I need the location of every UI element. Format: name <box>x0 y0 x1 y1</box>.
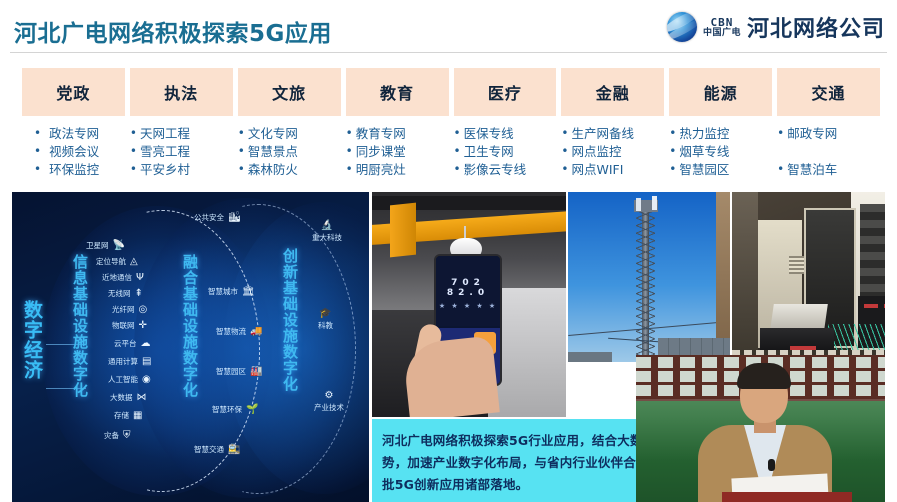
list-item: •影像云专线 <box>454 161 557 178</box>
public-safety-icon: 🏙 <box>228 212 241 223</box>
category-column-dangzheng: 党政 •政法专网 •视频会议 •环保监控 <box>22 68 125 188</box>
category-header-card[interactable]: 执法 <box>130 68 233 116</box>
bigdata-icon: ⋈ <box>137 392 147 403</box>
room-wall <box>732 192 758 362</box>
list-item: •雪亮工程 <box>130 143 233 160</box>
pillar-label-3: 创新基础设施数字化 <box>280 248 301 392</box>
list-item: •网点监控 <box>561 143 664 160</box>
bullet-icon: • <box>669 125 676 142</box>
list-item-label: 文化专网 <box>248 125 298 142</box>
info-item: 智慧物流🚚 <box>216 326 262 337</box>
list-item: •政法专网 <box>34 125 125 142</box>
bullet-icon: • <box>34 143 41 160</box>
list-item: •教育专网 <box>346 125 449 142</box>
digital-economy-infographic: 数字经济 信息基础设施数字化 融合基础设施数字化 创新基础设施数字化 卫星网📡 … <box>12 192 369 502</box>
category-item-list: •邮政专网 • •智慧泊车 <box>777 116 880 178</box>
category-title: 文旅 <box>272 80 306 104</box>
bullet-icon: • <box>130 143 137 160</box>
info-item: 灾备⛨ <box>104 430 131 441</box>
cbn-brand-en: CBN <box>711 17 734 28</box>
list-item: •生产网备线 <box>561 125 664 142</box>
speaker-video-panel[interactable] <box>636 355 885 502</box>
list-item: •医保专线 <box>454 125 557 142</box>
bullet-icon: • <box>34 125 41 142</box>
category-header-card[interactable]: 能源 <box>669 68 772 116</box>
page-title: 河北广电网络积极探索5G应用 <box>14 14 332 48</box>
speedtest-screen: 702 82.0 ★ ★ ★ ★ ★ <box>436 256 500 326</box>
info-item: 人工智能◉ <box>108 374 151 385</box>
category-header-card[interactable]: 文旅 <box>238 68 341 116</box>
category-title: 医疗 <box>488 80 522 104</box>
antenna-panel <box>652 196 657 210</box>
bullet-icon: • <box>669 161 676 178</box>
speedtest-values: 702 82.0 <box>436 278 500 298</box>
speaker-hair <box>737 363 791 389</box>
info-item: 🎓科教 <box>318 308 333 331</box>
bullet-icon: • <box>454 161 461 178</box>
equipment-room-photo <box>732 192 885 362</box>
info-item-label: 智慧园区 <box>216 366 246 377</box>
satellite-icon: 📡 <box>113 240 125 251</box>
list-item: •邮政专网 <box>777 125 880 142</box>
microscope-icon: 🔬 <box>321 220 333 231</box>
bullet-icon: • <box>130 125 137 142</box>
list-item-label: 天网工程 <box>140 125 190 142</box>
category-column-yiliao: 医疗 •医保专线 •卫生专网 •影像云专线 <box>454 68 557 188</box>
category-header-card[interactable]: 交通 <box>777 68 880 116</box>
info-item: 物联网✛ <box>112 320 147 331</box>
bullet-icon: • <box>454 125 461 142</box>
info-item-label: 智慧环保 <box>212 404 242 415</box>
slide-header: 河北广电网络积极探索5G应用 CBN 中国广电 河北网络公司 <box>0 0 897 56</box>
compute-icon: ▤ <box>142 356 151 367</box>
info-item: 存储▦ <box>114 410 142 421</box>
bullet-icon: • <box>669 143 676 160</box>
ai-icon: ◉ <box>142 374 151 385</box>
environment-icon: 🌱 <box>246 404 258 415</box>
transport-icon: 🚉 <box>228 444 240 455</box>
info-item-label: 灾备 <box>104 430 119 441</box>
category-column-jiaotong: 交通 •邮政专网 • •智慧泊车 <box>777 68 880 188</box>
info-item-label: 智慧物流 <box>216 326 246 337</box>
bullet-icon: • <box>130 161 137 178</box>
graduation-cap-icon: 🎓 <box>319 308 331 319</box>
category-column-jiaoyu: 教育 •教育专网 •同步课堂 •明厨亮灶 <box>346 68 449 188</box>
category-header-card[interactable]: 医疗 <box>454 68 557 116</box>
info-item-label: 智慧交通 <box>194 444 224 455</box>
list-item-label: 森林防火 <box>248 161 298 178</box>
list-item-label: 智慧泊车 <box>787 161 837 178</box>
list-item-label: 影像云专线 <box>464 161 527 178</box>
info-item: 通用计算▤ <box>108 356 151 367</box>
side-building <box>716 192 730 362</box>
info-item: 智慧交通🚉 <box>194 444 240 455</box>
bullet-icon: • <box>454 143 461 160</box>
antenna-panel <box>636 198 641 211</box>
info-item: 🔬重大科技 <box>312 220 342 243</box>
bullet-icon: • <box>777 161 784 178</box>
category-item-list: •医保专线 •卫生专网 •影像云专线 <box>454 116 557 178</box>
info-item-label: 光纤网 <box>112 304 135 315</box>
list-item: •智慧园区 <box>669 161 772 178</box>
bullet-icon: • <box>346 143 353 160</box>
list-item: •同步课堂 <box>346 143 449 160</box>
smart-city-icon: 🏛 <box>242 286 255 297</box>
infographic-center-label: 数字经济 <box>22 300 42 380</box>
list-item-label: 雪亮工程 <box>140 143 190 160</box>
category-item-list: •教育专网 •同步课堂 •明厨亮灶 <box>346 116 449 178</box>
info-item: 光纤网◎ <box>112 304 147 315</box>
factory-5g-speedtest-photo: 702 82.0 ★ ★ ★ ★ ★ <box>372 192 566 417</box>
company-name: 河北网络公司 <box>747 11 885 43</box>
info-item-label: 物联网 <box>112 320 135 331</box>
list-item-label: 邮政专网 <box>787 125 837 142</box>
fiber-icon: ◎ <box>139 304 148 315</box>
category-title: 能源 <box>704 80 738 104</box>
wireless-icon: ⇞ <box>135 288 143 299</box>
info-item: 大数据⋈ <box>110 392 147 403</box>
list-item: •环保监控 <box>34 161 125 178</box>
info-item-label: 科教 <box>318 320 333 331</box>
list-item: •热力监控 <box>669 125 772 142</box>
list-item-label: 教育专网 <box>356 125 406 142</box>
download-speed: 702 <box>451 278 485 288</box>
info-item: 智慧环保🌱 <box>212 404 258 415</box>
category-title: 执法 <box>164 80 198 104</box>
info-item-label: 智慧城市 <box>208 286 238 297</box>
list-item: •网点WIFI <box>561 161 664 178</box>
info-item: ⚙产业技术 <box>314 390 344 413</box>
list-item-label: 医保专线 <box>464 125 514 142</box>
pillar-label-2: 融合基础设施数字化 <box>180 254 201 398</box>
list-item: •平安乡村 <box>130 161 233 178</box>
info-item: 无线网⇞ <box>108 288 143 299</box>
list-item-label: 智慧园区 <box>679 161 729 178</box>
list-item-label: 平安乡村 <box>140 161 190 178</box>
list-item-label: 同步课堂 <box>356 143 406 160</box>
caption-box: 河北广电网络积极探索5G行业应用，结合大数据创新优势，加速产业数字化布局，与省内… <box>372 419 648 502</box>
info-item-label: 产业技术 <box>314 402 344 413</box>
list-item-label: 热力监控 <box>679 125 729 142</box>
bullet-icon: • <box>777 125 784 142</box>
list-item-label: 卫生专网 <box>464 143 514 160</box>
info-item: 公共安全🏙 <box>194 212 241 223</box>
bullet-icon: • <box>561 161 568 178</box>
info-item-label: 卫星网 <box>86 240 109 251</box>
info-item-label: 公共安全 <box>194 212 224 223</box>
list-item-label: 网点监控 <box>571 143 621 160</box>
info-item-label: 近地通信 <box>102 272 132 283</box>
category-column-jinrong: 金融 •生产网备线 •网点监控 •网点WIFI <box>561 68 664 188</box>
list-item-label: 政法专网 <box>49 125 99 142</box>
category-item-list: •政法专网 •视频会议 •环保监控 <box>22 116 125 178</box>
bullet-icon: • <box>346 125 353 142</box>
bullet-icon: • <box>238 143 245 160</box>
category-title: 交通 <box>812 80 846 104</box>
smart-park-icon: 🏭 <box>250 366 262 377</box>
category-column-zhifa: 执法 •天网工程 •雪亮工程 •平安乡村 <box>130 68 233 188</box>
list-item: •智慧泊车 <box>777 161 880 178</box>
category-header-card[interactable]: 金融 <box>561 68 664 116</box>
category-item-list: •生产网备线 •网点监控 •网点WIFI <box>561 116 664 178</box>
caption-text: 河北广电网络积极探索5G行业应用，结合大数据创新优势，加速产业数字化布局，与省内… <box>382 430 648 496</box>
bullet-icon: • <box>238 161 245 178</box>
category-column-nengyuan: 能源 •热力监控 •烟草专线 •智慧园区 <box>669 68 772 188</box>
info-item: 智慧城市🏛 <box>208 286 255 297</box>
category-title: 党政 <box>56 80 90 104</box>
info-item-label: 存储 <box>114 410 129 421</box>
list-item-label: 环保监控 <box>49 161 99 178</box>
category-title: 教育 <box>380 80 414 104</box>
list-item-label: 智慧景点 <box>248 143 298 160</box>
info-item: 智慧园区🏭 <box>216 366 262 377</box>
bullet-icon: • <box>561 125 568 142</box>
list-item-label: 明厨亮灶 <box>356 161 406 178</box>
navigation-icon: ◬ <box>130 256 138 267</box>
info-item: 近地通信Ψ <box>102 272 144 283</box>
header-divider <box>10 52 887 53</box>
list-item-label: 烟草专线 <box>679 143 729 160</box>
bullet-icon: • <box>346 161 353 178</box>
dish-icon: Ψ <box>136 272 144 283</box>
category-columns: 党政 •政法专网 •视频会议 •环保监控 执法 •天网工程 •雪亮工程 •平安乡… <box>22 68 880 188</box>
storage-icon: ▦ <box>133 410 142 421</box>
bullet-icon: • <box>34 161 41 178</box>
backup-icon: ⛨ <box>123 430 131 441</box>
cell-tower-photo <box>568 192 730 362</box>
info-item-label: 大数据 <box>110 392 133 403</box>
media-band: 数字经济 信息基础设施数字化 融合基础设施数字化 创新基础设施数字化 卫星网📡 … <box>12 192 885 502</box>
info-item-label: 无线网 <box>108 288 131 299</box>
rating-stars-icon: ★ ★ ★ ★ ★ <box>436 302 500 310</box>
category-header-card[interactable]: 党政 <box>22 68 125 116</box>
list-item: •文化专网 <box>238 125 341 142</box>
upload-speed: 82.0 <box>447 288 489 298</box>
industry-tech-icon: ⚙ <box>325 390 334 401</box>
slide-root: 河北广电网络积极探索5G应用 CBN 中国广电 河北网络公司 党政 •政法专网 … <box>0 0 897 502</box>
list-item-label: 生产网备线 <box>571 125 634 142</box>
info-item: 定位导航◬ <box>96 256 138 267</box>
list-item: •视频会议 <box>34 143 125 160</box>
info-item-label: 人工智能 <box>108 374 138 385</box>
info-item-label: 通用计算 <box>108 356 138 367</box>
bullet-icon: • <box>238 125 245 142</box>
crane-column <box>390 203 416 258</box>
logistics-icon: 🚚 <box>250 326 262 337</box>
category-item-list: •天网工程 •雪亮工程 •平安乡村 <box>130 116 233 178</box>
category-header-card[interactable]: 教育 <box>346 68 449 116</box>
category-title: 金融 <box>596 80 630 104</box>
cbn-brand-cn: 中国广电 <box>703 29 741 38</box>
company-logo: CBN 中国广电 河北网络公司 <box>667 10 885 44</box>
cbn-brand-mark: CBN 中国广电 <box>703 17 741 38</box>
bullet-icon: • <box>561 143 568 160</box>
info-item: 云平台☁ <box>114 338 151 349</box>
info-item-label: 重大科技 <box>312 232 342 243</box>
list-item-label: 视频会议 <box>49 143 99 160</box>
list-item: •天网工程 <box>130 125 233 142</box>
list-item: •智慧景点 <box>238 143 341 160</box>
category-item-list: •热力监控 •烟草专线 •智慧园区 <box>669 116 772 178</box>
list-item-label: 网点WIFI <box>571 161 623 178</box>
microphone-icon <box>768 459 775 471</box>
list-item: •卫生专网 <box>454 143 557 160</box>
info-item: 卫星网📡 <box>86 240 125 251</box>
desk <box>722 492 852 502</box>
globe-icon <box>667 12 697 42</box>
list-item: •烟草专线 <box>669 143 772 160</box>
iot-icon: ✛ <box>139 320 147 331</box>
laptop <box>770 304 828 330</box>
brick-wall <box>568 352 612 362</box>
list-item: •森林防火 <box>238 161 341 178</box>
info-item-label: 云平台 <box>114 338 137 349</box>
cloud-icon: ☁ <box>141 338 151 349</box>
info-item-label: 定位导航 <box>96 256 126 267</box>
category-column-wenlv: 文旅 •文化专网 •智慧景点 •森林防火 <box>238 68 341 188</box>
pillar-label-1: 信息基础设施数字化 <box>70 254 91 398</box>
category-item-list: •文化专网 •智慧景点 •森林防火 <box>238 116 341 178</box>
list-item: •明厨亮灶 <box>346 161 449 178</box>
